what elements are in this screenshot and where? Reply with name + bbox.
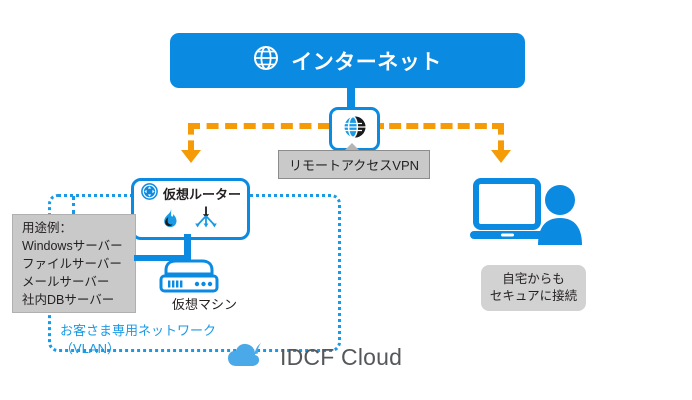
internet-label: インターネット [291,46,442,76]
dashed-route-left-vertical [188,123,194,152]
idcf-cloud-logo: IDCF Cloud [228,341,402,374]
dashed-route-right-horizontal [372,123,504,129]
vpn-globe-icon [342,114,368,145]
dashed-route-right-arrow [491,150,511,163]
virtual-machine-label: 仮想マシン [152,294,257,313]
person-icon [533,183,587,250]
virtual-router-header: 仮想ルーター [141,183,241,203]
idcf-cloud-logo-icon [228,341,272,374]
diagram-canvas: インターネット リモートアクセスVPN お客さま専用ネットワーク （VLAN） [0,0,692,400]
internet-banner: インターネット [170,33,525,88]
usage-example-text: 用途例： Windowsサーバー ファイルサーバー メールサーバー 社内DBサー… [22,219,123,309]
vpn-label: リモートアクセスVPN [278,150,430,179]
virtual-machine-icon [158,256,220,299]
connector-usage-to-vlan [72,196,78,214]
virtual-router-icon [141,183,158,203]
idcf-cloud-name: IDCF Cloud [280,344,402,371]
dashed-route-left-horizontal [188,123,330,129]
load-balancer-icon [194,206,218,233]
vlan-label: お客さま専用ネットワーク （VLAN） [60,322,216,358]
globe-icon [253,45,279,76]
dashed-route-left-arrow [181,150,201,163]
dashed-route-right-vertical [498,123,504,152]
virtual-router-label: 仮想ルーター [163,184,241,203]
virtual-router-services [158,206,218,233]
home-access-label: 自宅からも セキュアに接続 [481,265,586,311]
firewall-icon [158,206,180,233]
